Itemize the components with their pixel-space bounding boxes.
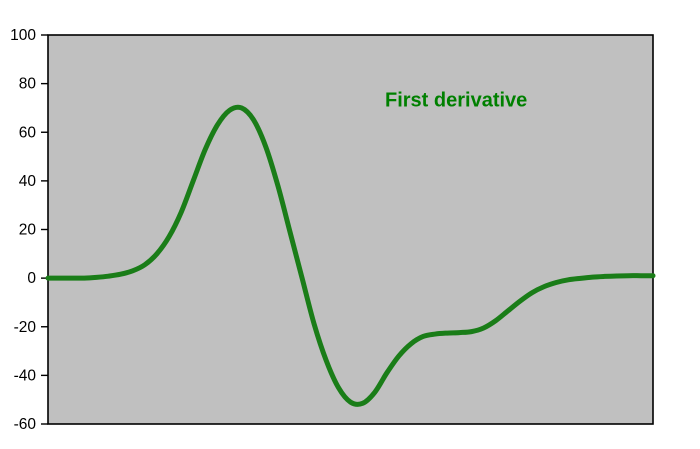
first-derivative-chart: 100806040200-20-40-60 First derivative	[0, 0, 700, 449]
y-axis-tick-label: 80	[19, 76, 37, 93]
y-axis-tick-label: 20	[19, 222, 37, 239]
chart-title: First derivative	[385, 89, 527, 111]
y-axis-tick-label: 60	[19, 124, 37, 141]
plot-area-background	[48, 35, 653, 424]
y-axis-tick-label: -60	[14, 416, 37, 433]
y-axis-tick-label: 100	[10, 27, 36, 44]
y-axis-tick-label: 40	[19, 173, 37, 190]
y-axis-tick-label: -40	[14, 367, 37, 384]
y-axis-tick-label: -20	[14, 319, 37, 336]
chart-container: 100806040200-20-40-60 First derivative	[0, 0, 700, 449]
y-axis-tick-label: 0	[27, 270, 36, 287]
